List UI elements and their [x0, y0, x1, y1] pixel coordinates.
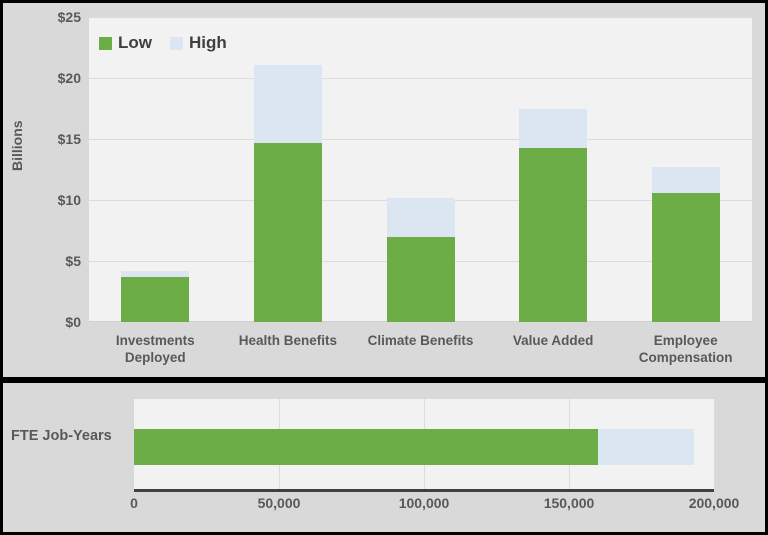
y-tick-label: $5	[11, 253, 81, 269]
bar-column	[519, 17, 587, 322]
y-tick-label: $25	[11, 9, 81, 25]
hbar-segment-low	[134, 429, 598, 465]
bar-segment-low	[519, 148, 587, 322]
vertical-gridline	[714, 399, 715, 489]
bar-segment-low	[121, 277, 189, 322]
bar-segment-high	[519, 109, 587, 148]
bottom-axis-line	[134, 489, 714, 492]
top-chart-panel: Billions $0$5$10$15$20$25 Low High Inves…	[3, 3, 765, 377]
fte-job-years-bar	[134, 429, 714, 465]
chart-legend: Low High	[99, 33, 227, 53]
y-tick-label: $10	[11, 192, 81, 208]
y-tick-label: $20	[11, 70, 81, 86]
bar-segment-high	[387, 198, 455, 237]
x-tick-label: 200,000	[689, 495, 740, 511]
x-category-label: Health Benefits	[222, 332, 355, 349]
legend-item-low: Low	[99, 33, 152, 53]
bar-segment-high	[652, 167, 720, 193]
bar-segment-high	[254, 65, 322, 143]
bar-column	[387, 17, 455, 322]
legend-swatch-low	[99, 37, 112, 50]
bottom-chart-panel: FTE Job-Years 050,000100,000150,000200,0…	[3, 383, 765, 532]
x-tick-label: 150,000	[544, 495, 595, 511]
x-tick-label: 0	[130, 495, 138, 511]
bar-segment-low	[387, 237, 455, 322]
legend-item-high: High	[170, 33, 227, 53]
y-tick-label: $0	[11, 314, 81, 330]
bar-column	[254, 17, 322, 322]
bar-segment-low	[652, 193, 720, 322]
x-category-label: Climate Benefits	[354, 332, 487, 349]
bar-column	[652, 17, 720, 322]
bottom-category-label: FTE Job-Years	[11, 428, 112, 444]
top-plot-area	[89, 17, 752, 322]
x-tick-label: 100,000	[399, 495, 450, 511]
legend-label-low: Low	[118, 33, 152, 53]
x-category-label: Employee Compensation	[619, 332, 752, 366]
bar-segment-low	[254, 143, 322, 322]
bottom-plot-area	[134, 399, 714, 489]
legend-swatch-high	[170, 37, 183, 50]
y-tick-label: $15	[11, 131, 81, 147]
legend-label-high: High	[189, 33, 227, 53]
bar-column	[121, 17, 189, 322]
x-tick-label: 50,000	[258, 495, 301, 511]
x-category-label: Value Added	[487, 332, 620, 349]
chart-figure: Billions $0$5$10$15$20$25 Low High Inves…	[0, 0, 768, 535]
x-category-label: Investments Deployed	[89, 332, 222, 366]
